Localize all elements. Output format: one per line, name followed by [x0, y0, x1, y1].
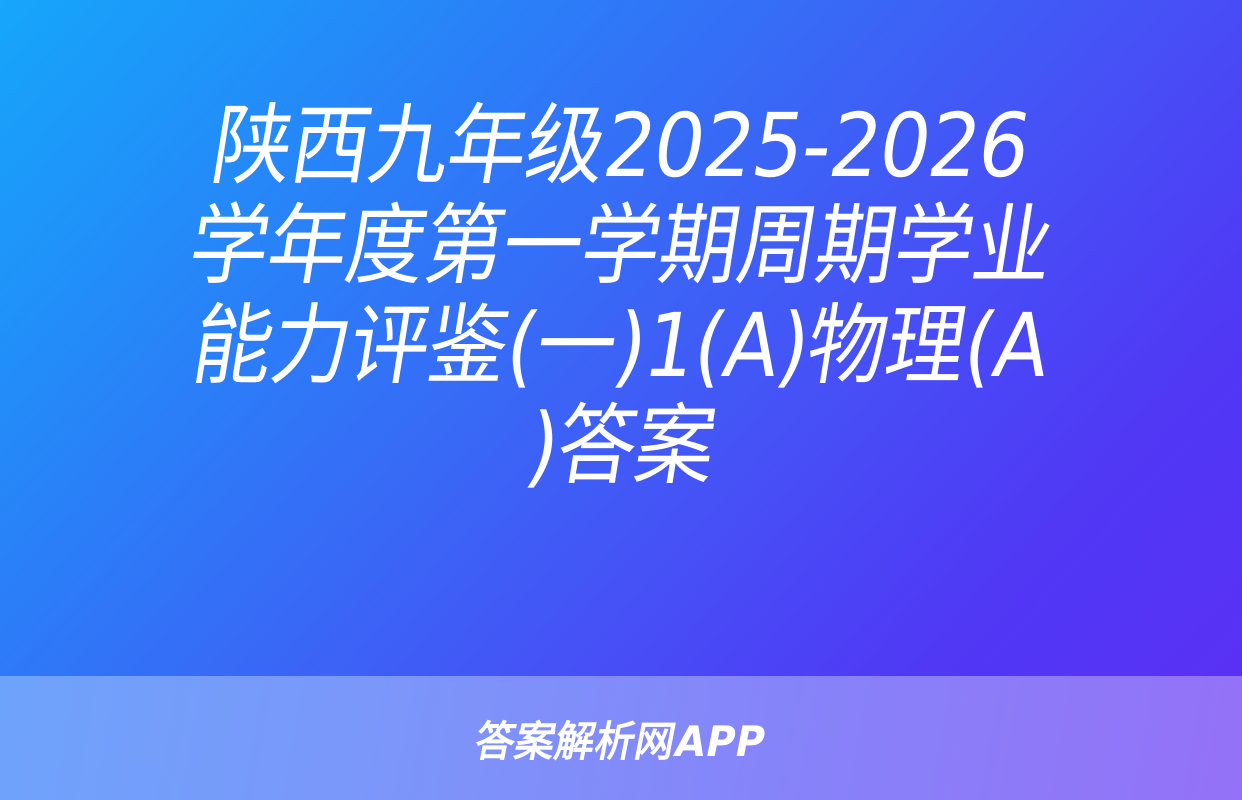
- footer-app-label: 答案解析网APP: [470, 708, 771, 769]
- title-line-4: )答案: [137, 396, 1105, 496]
- poster-title: 陕西九年级2025-2026 学年度第一学期周期学业 能力评鉴(一)1(A)物理…: [0, 96, 1242, 496]
- title-line-1: 陕西九年级2025-2026: [137, 96, 1105, 196]
- title-line-2: 学年度第一学期周期学业: [137, 196, 1105, 296]
- title-line-3: 能力评鉴(一)1(A)物理(A: [137, 296, 1105, 396]
- footer-banner: 答案解析网APP: [0, 676, 1242, 800]
- poster-canvas: 陕西九年级2025-2026 学年度第一学期周期学业 能力评鉴(一)1(A)物理…: [0, 0, 1242, 800]
